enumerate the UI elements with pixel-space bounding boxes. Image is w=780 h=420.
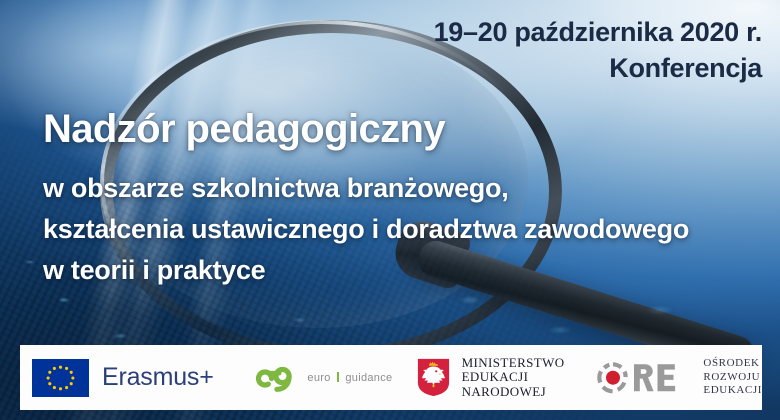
euroguidance-word-first: euro (307, 372, 330, 384)
logo-euroguidance: euro guidance (234, 345, 397, 410)
logo-erasmus-plus: Erasmus+ (20, 345, 234, 410)
erasmus-wordmark: Erasmus+ (102, 363, 214, 392)
euroguidance-eg-icon (256, 361, 298, 395)
ore-line-2: ROZWOJU (703, 371, 762, 385)
euroguidance-divider-icon (337, 372, 339, 382)
logo-ministerstwo-edukacji-narodowej: MINISTERSTWO EDUKACJI NARODOWEJ (398, 345, 587, 410)
banner-subtitle: w obszarze szkolnictwa branżowego, kszta… (43, 168, 689, 291)
ministerstwo-wordmark: MINISTERSTWO EDUKACJI NARODOWEJ (462, 356, 565, 400)
men-line-2: EDUKACJI (462, 370, 565, 385)
ore-line-3: EDUKACJI (703, 384, 762, 398)
subtitle-line-1: w obszarze szkolnictwa branżowego, (43, 168, 689, 209)
euroguidance-word-second: guidance (345, 372, 392, 384)
event-type: Konferencja (434, 50, 762, 86)
banner-title: Nadzór pedagogiczny (43, 106, 445, 152)
event-date-block: 19–20 października 2020 r. Konferencja (434, 14, 762, 86)
event-date: 19–20 października 2020 r. (434, 14, 762, 50)
men-line-1: MINISTERSTWO (462, 356, 565, 371)
subtitle-line-3: w teorii i praktyce (43, 250, 689, 291)
partner-logo-bar: Erasmus+ euro guidance (20, 345, 762, 410)
logo-ore: OŚRODEK ROZWOJU EDUKACJI (586, 345, 762, 410)
subtitle-line-2: kształcenia ustawicznego i doradztwa zaw… (43, 209, 689, 250)
conference-banner: 19–20 października 2020 r. Konferencja N… (0, 0, 780, 420)
ore-ring-icon (596, 361, 693, 395)
eu-flag-icon (32, 359, 89, 397)
ore-wordmark: OŚRODEK ROZWOJU EDUKACJI (703, 357, 762, 398)
ore-line-1: OŚRODEK (703, 357, 762, 371)
euroguidance-wordmark: euro guidance (307, 372, 392, 384)
polish-eagle-coat-of-arms-icon (416, 357, 451, 398)
men-line-3: NARODOWEJ (462, 385, 565, 400)
